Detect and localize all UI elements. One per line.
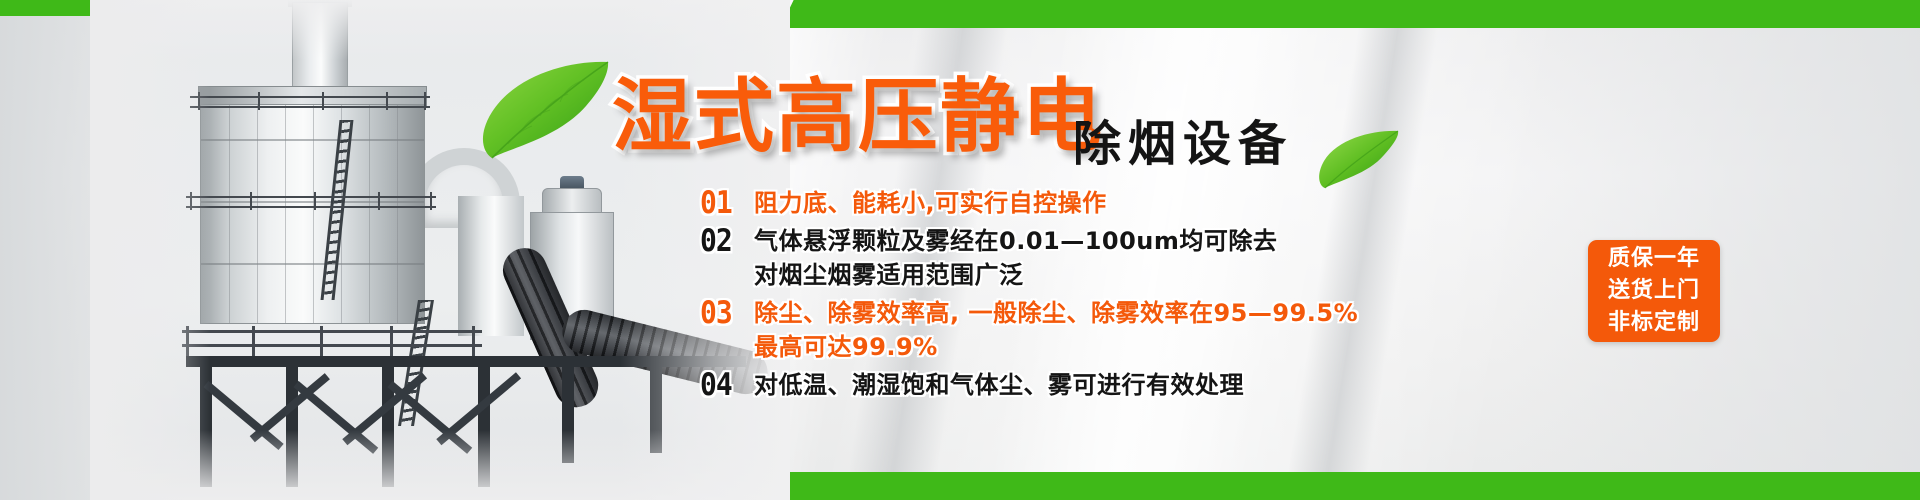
feature-line-1: 阻力底、能耗小,可实行自控操作 <box>754 189 1107 217</box>
feature-line-2: 对烟尘烟雾适用范围广泛 <box>754 258 1277 292</box>
silo-body <box>200 104 425 324</box>
leaf-icon <box>476 58 616 163</box>
feature-list: 01 阻力底、能耗小,可实行自控操作 02 气体悬浮颗粒及雾经在0.01—100… <box>700 186 1520 406</box>
feature-item-02: 02 气体悬浮颗粒及雾经在0.01—100um均可除去 对烟尘烟雾适用范围广泛 <box>700 224 1520 292</box>
feature-line-1: 气体悬浮颗粒及雾经在0.01—100um均可除去 <box>754 227 1277 255</box>
page-subtitle: 除烟设备 <box>1073 104 1293 174</box>
photo-fade-left <box>90 0 210 500</box>
feature-text: 气体悬浮颗粒及雾经在0.01—100um均可除去 对烟尘烟雾适用范围广泛 <box>754 224 1277 292</box>
service-badge-line-3: 非标定制 <box>1608 308 1700 338</box>
service-badge-line-1: 质保一年 <box>1608 244 1700 274</box>
feature-line-1: 对低温、潮湿饱和气体尘、雾可进行有效处理 <box>754 371 1244 399</box>
leaf-icon <box>1316 128 1402 190</box>
feature-number: 02 <box>700 222 754 260</box>
service-badge[interactable]: 质保一年 送货上门 非标定制 <box>1588 240 1720 342</box>
feature-number: 04 <box>700 366 754 404</box>
feature-text: 阻力底、能耗小,可实行自控操作 <box>754 186 1107 220</box>
feature-item-01: 01 阻力底、能耗小,可实行自控操作 <box>700 186 1520 220</box>
feature-number: 01 <box>700 184 754 222</box>
feature-item-04: 04 对低温、潮湿饱和气体尘、雾可进行有效处理 <box>700 368 1520 402</box>
feature-item-03: 03 除尘、除雾效率高, 一般除尘、除雾效率在95—99.5% 最高可达99.9… <box>700 296 1520 364</box>
feature-line-1: 除尘、除雾效率高, 一般除尘、除雾效率在95—99.5% <box>754 299 1358 327</box>
feature-text: 对低温、潮湿饱和气体尘、雾可进行有效处理 <box>754 368 1244 402</box>
feature-number: 03 <box>700 294 754 332</box>
service-badge-line-2: 送货上门 <box>1608 276 1700 306</box>
green-ribbon-top <box>780 0 1920 28</box>
promo-banner: 湿式高压静电 除烟设备 01 阻力底、能耗小,可实行自控操作 02 气体悬浮颗粒… <box>0 0 1920 500</box>
feature-line-2: 最高可达99.9% <box>754 330 1358 364</box>
feature-text: 除尘、除雾效率高, 一般除尘、除雾效率在95—99.5% 最高可达99.9% <box>754 296 1358 364</box>
tower-cap <box>542 188 602 214</box>
page-title: 湿式高压静电 <box>612 52 1104 168</box>
